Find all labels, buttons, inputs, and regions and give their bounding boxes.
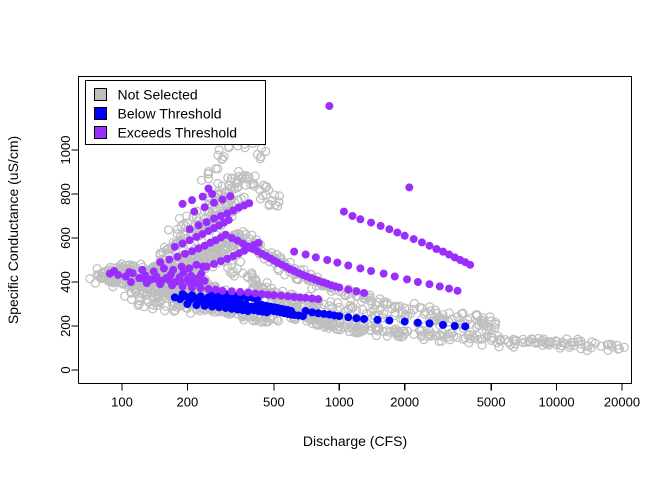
- data-point: [255, 239, 263, 247]
- data-point: [138, 266, 146, 274]
- data-point: [356, 264, 364, 272]
- data-point: [110, 267, 118, 275]
- x-tick-label: 20000: [604, 395, 640, 410]
- data-point: [195, 221, 203, 229]
- data-point: [425, 280, 433, 288]
- data-point: [436, 282, 444, 290]
- data-point: [245, 199, 253, 207]
- data-point: [353, 287, 361, 295]
- data-point: [188, 291, 196, 299]
- data-point: [335, 284, 343, 292]
- data-point: [302, 251, 310, 259]
- data-point: [203, 263, 211, 271]
- data-point: [210, 215, 218, 223]
- x-tick-label: 10000: [539, 395, 575, 410]
- data-point: [414, 319, 422, 327]
- legend-swatch-not-selected[interactable]: [95, 89, 107, 101]
- x-tick-label: 5000: [477, 395, 506, 410]
- data-point: [414, 278, 422, 286]
- legend-swatch-below-threshold[interactable]: [95, 108, 107, 120]
- data-point: [188, 196, 196, 204]
- data-point: [270, 291, 278, 299]
- data-point: [197, 270, 205, 278]
- data-point: [215, 146, 223, 154]
- data-point: [186, 278, 194, 286]
- data-point: [237, 258, 245, 266]
- data-point: [466, 261, 474, 269]
- data-point: [277, 292, 285, 300]
- data-point: [403, 275, 411, 283]
- data-point: [410, 235, 418, 243]
- x-tick-label: 200: [177, 395, 199, 410]
- data-point: [367, 219, 375, 227]
- y-tick-label: 1000: [58, 136, 73, 165]
- data-point: [204, 285, 212, 293]
- data-point: [165, 256, 173, 264]
- data-point: [454, 287, 462, 295]
- data-point: [344, 286, 352, 294]
- data-point: [385, 317, 393, 325]
- data-point: [181, 250, 189, 258]
- data-point: [125, 268, 133, 276]
- data-point: [374, 316, 382, 324]
- data-point: [287, 307, 295, 315]
- data-point: [244, 307, 252, 315]
- data-point: [425, 319, 433, 327]
- legend: Not SelectedBelow ThresholdExceeds Thres…: [86, 81, 266, 145]
- x-tick-label: 500: [263, 395, 285, 410]
- data-point: [161, 307, 169, 315]
- data-point: [418, 238, 426, 246]
- data-point: [461, 322, 469, 330]
- data-point: [228, 287, 236, 295]
- data-point: [204, 185, 212, 193]
- data-point: [445, 285, 453, 293]
- data-point: [208, 303, 216, 311]
- data-point: [183, 300, 191, 308]
- legend-swatch-exceeds-threshold[interactable]: [95, 127, 107, 139]
- data-point: [323, 256, 331, 264]
- data-point: [178, 263, 186, 271]
- legend-label-not-selected: Not Selected: [118, 87, 198, 103]
- data-point: [195, 280, 203, 288]
- data-point: [201, 203, 209, 211]
- x-axis-title: Discharge (CFS): [303, 433, 407, 449]
- data-point: [179, 240, 187, 248]
- data-point: [186, 225, 194, 233]
- data-point: [314, 295, 322, 303]
- data-point: [344, 262, 352, 270]
- scatter-plot-figure: 1002005001000200050001000020000020040060…: [0, 0, 672, 480]
- data-point: [179, 290, 187, 298]
- data-point: [344, 313, 352, 321]
- y-tick-label: 0: [58, 366, 73, 373]
- data-point: [139, 274, 147, 282]
- data-point: [218, 287, 226, 295]
- data-point: [164, 226, 172, 234]
- data-point: [236, 288, 244, 296]
- axis-labels-layer: 1002005001000200050001000020000020040060…: [5, 136, 640, 449]
- y-tick-label: 400: [58, 271, 73, 293]
- data-point: [405, 183, 413, 191]
- data-point: [201, 302, 209, 310]
- data-point: [380, 270, 388, 278]
- data-point: [179, 200, 187, 208]
- data-point: [197, 292, 205, 300]
- data-point: [340, 208, 348, 216]
- data-point: [171, 243, 179, 251]
- plot-canvas: 1002005001000200050001000020000020040060…: [0, 0, 672, 480]
- y-tick-label: 600: [58, 227, 73, 249]
- data-point: [244, 289, 252, 297]
- data-point: [401, 318, 409, 326]
- data-point: [169, 266, 177, 274]
- data-point: [335, 312, 343, 320]
- data-point: [451, 322, 459, 330]
- data-point: [391, 273, 399, 281]
- data-point: [401, 232, 409, 240]
- data-point: [140, 303, 148, 311]
- y-tick-label: 200: [58, 315, 73, 337]
- data-point: [377, 222, 385, 230]
- data-point: [325, 102, 333, 110]
- data-point: [225, 216, 233, 224]
- data-point: [367, 267, 375, 275]
- data-point: [165, 276, 173, 284]
- data-point: [153, 275, 161, 283]
- data-point: [203, 218, 211, 226]
- data-point: [185, 264, 193, 272]
- data-point: [333, 259, 341, 267]
- data-point: [210, 260, 218, 268]
- data-point: [360, 289, 368, 297]
- data-point: [156, 258, 164, 266]
- data-point: [210, 199, 218, 207]
- data-point: [353, 314, 361, 322]
- x-tick-label: 2000: [390, 395, 419, 410]
- data-point: [425, 242, 433, 250]
- y-tick-label: 800: [58, 183, 73, 205]
- data-point: [356, 215, 364, 223]
- data-point: [150, 267, 158, 275]
- data-point: [192, 301, 200, 309]
- data-point: [312, 253, 320, 261]
- data-point: [290, 248, 298, 256]
- legend-label-exceeds-threshold: Exceeds Threshold: [118, 125, 238, 141]
- data-point: [439, 321, 447, 329]
- data-point: [226, 192, 234, 200]
- x-tick-label: 1000: [325, 395, 354, 410]
- data-point: [360, 315, 368, 323]
- x-tick-label: 100: [111, 395, 133, 410]
- data-point: [127, 278, 135, 286]
- data-point: [199, 193, 207, 201]
- data-point: [393, 229, 401, 237]
- data-point: [385, 225, 393, 233]
- data-point: [348, 212, 356, 220]
- data-point: [176, 278, 184, 286]
- y-axis-title: Specific Conductance (uS/cm): [5, 136, 21, 324]
- data-point: [212, 286, 220, 294]
- data-point: [190, 208, 198, 216]
- data-point: [218, 196, 226, 204]
- legend-label-below-threshold: Below Threshold: [118, 106, 222, 122]
- data-point: [173, 253, 181, 261]
